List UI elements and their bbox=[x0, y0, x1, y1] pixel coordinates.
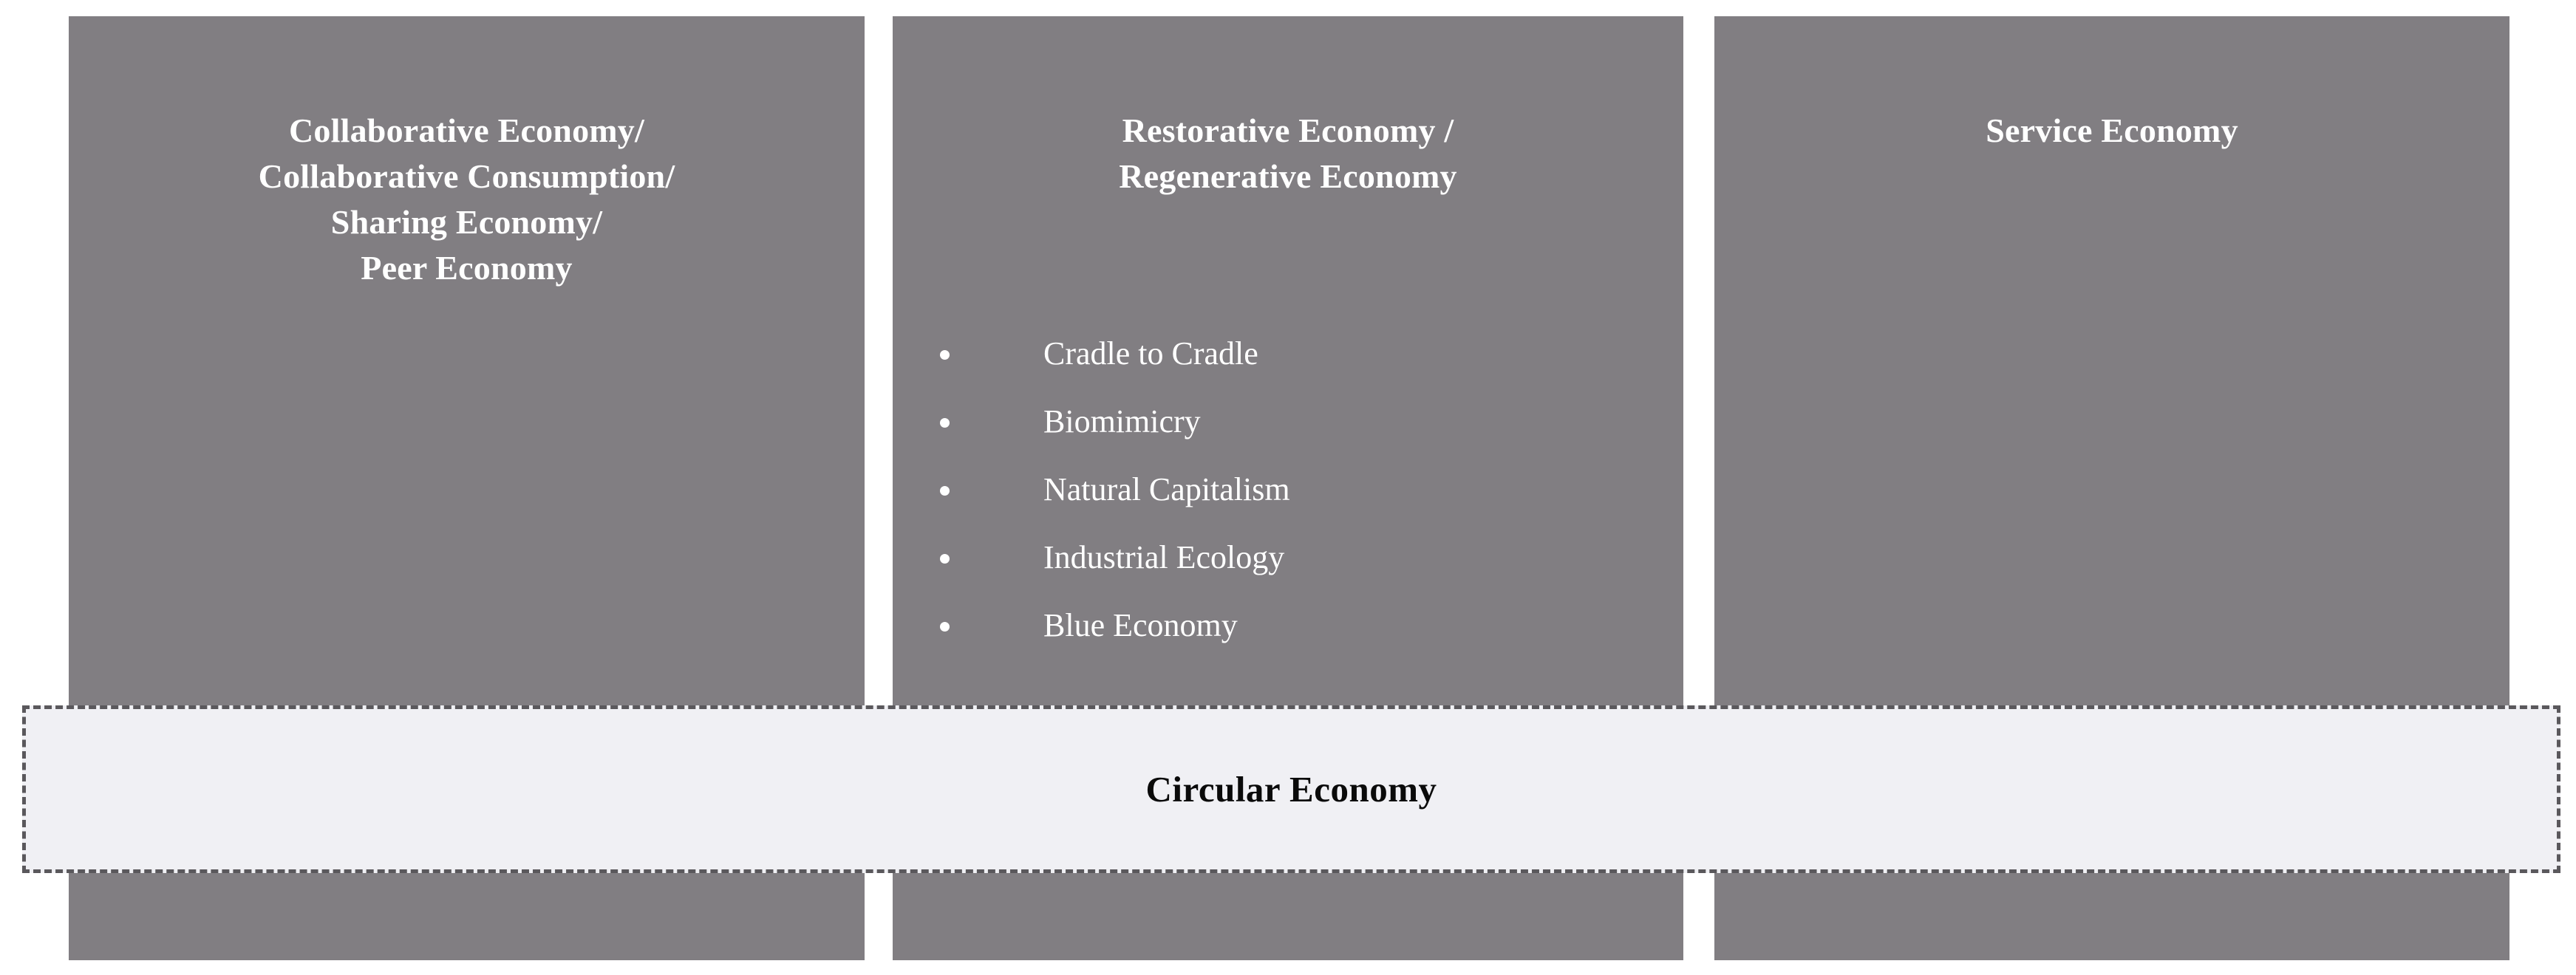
circular-economy-label: Circular Economy bbox=[1145, 768, 1437, 810]
restorative-economy-concept-list: Cradle to Cradle Biomimicry Natural Capi… bbox=[933, 320, 1642, 660]
bullet-dot-icon bbox=[940, 622, 950, 632]
column-heading-service-economy: Service Economy bbox=[1714, 108, 2509, 154]
list-item-label: Natural Capitalism bbox=[1043, 471, 1290, 507]
list-item-label: Industrial Ecology bbox=[1043, 539, 1284, 575]
list-item: Blue Economy bbox=[933, 592, 1642, 660]
bullet-dot-icon bbox=[940, 554, 950, 564]
column-heading-restorative-economy: Restorative Economy / Regenerative Econo… bbox=[893, 108, 1683, 199]
column-heading-collaborative-economy: Collaborative Economy/ Collaborative Con… bbox=[69, 108, 865, 291]
list-item: Industrial Ecology bbox=[933, 524, 1642, 592]
list-item: Cradle to Cradle bbox=[933, 320, 1642, 388]
list-item-label: Cradle to Cradle bbox=[1043, 335, 1258, 372]
list-item-label: Blue Economy bbox=[1043, 607, 1238, 643]
bullet-dot-icon bbox=[940, 350, 950, 360]
bullet-dot-icon bbox=[940, 418, 950, 428]
list-item-label: Biomimicry bbox=[1043, 403, 1201, 439]
bullet-dot-icon bbox=[940, 486, 950, 496]
diagram-canvas: Collaborative Economy/ Collaborative Con… bbox=[0, 0, 2576, 975]
list-item: Biomimicry bbox=[933, 388, 1642, 456]
circular-economy-banner: Circular Economy bbox=[22, 705, 2560, 873]
list-item: Natural Capitalism bbox=[933, 456, 1642, 524]
